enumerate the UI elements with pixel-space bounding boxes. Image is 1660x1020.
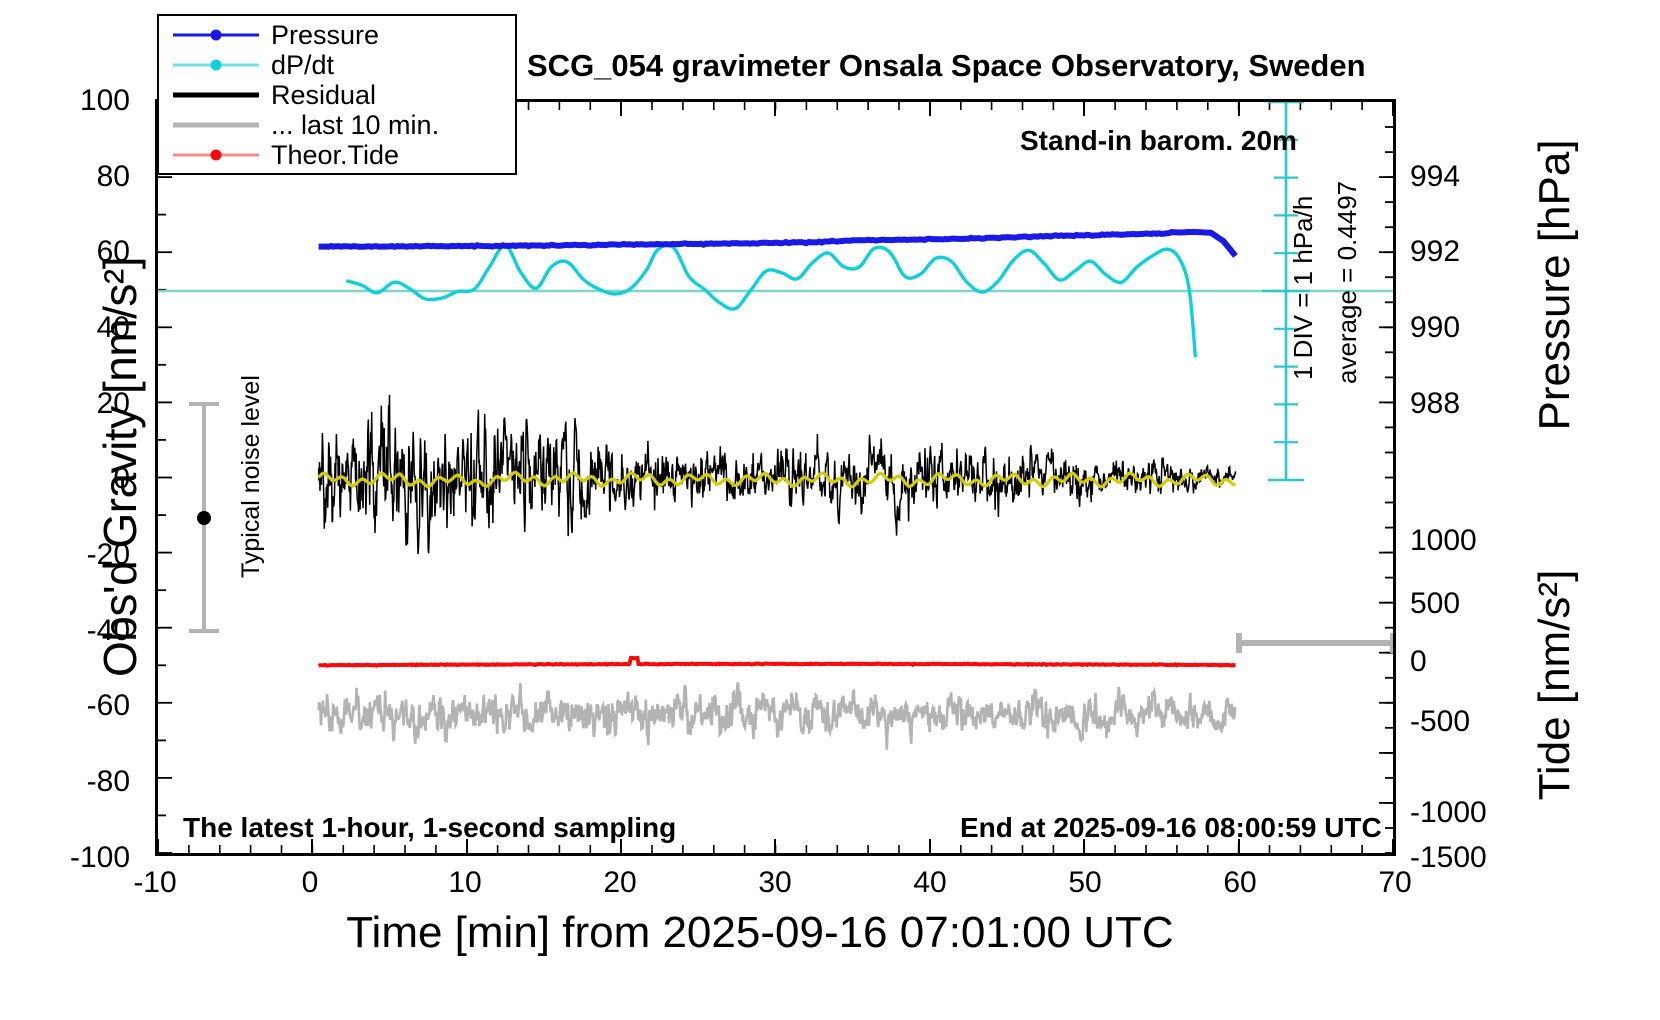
t-tick-1000: 1000 (1410, 524, 1477, 558)
plot-area (155, 99, 1396, 856)
y-tick-m20: -20 (30, 538, 130, 572)
y-tick-60: 60 (30, 235, 130, 269)
typical-noise-label: Typical noise level (237, 375, 266, 578)
legend-label-pressure: Pressure (271, 20, 379, 51)
y-tick-20: 20 (30, 387, 130, 421)
legend-label-dpdt: dP/dt (271, 50, 334, 81)
legend-swatch-pressure (173, 23, 259, 47)
legend-item-dpdt[interactable]: dP/dt (173, 50, 515, 80)
p-tick-988: 988 (1410, 387, 1460, 421)
x-tick-0: 0 (265, 866, 355, 900)
legend-swatch-residual (173, 83, 259, 107)
x-tick-50: 50 (1040, 866, 1130, 900)
series-theoretical-tide (319, 658, 1236, 666)
x-axis-title: Time [min] from 2025-09-16 07:01:00 UTC (160, 908, 1360, 958)
x-tick-10: 10 (420, 866, 510, 900)
legend-label-last10: ... last 10 min. (271, 110, 439, 141)
footer-right-label: End at 2025-09-16 08:00:59 UTC (960, 812, 1382, 844)
y-tick-m60: -60 (30, 689, 130, 723)
legend-swatch-last10 (173, 113, 259, 137)
legend-item-theortide[interactable]: Theor.Tide (173, 140, 515, 170)
series-dpdt (346, 245, 1195, 357)
legend-swatch-dpdt (173, 53, 259, 77)
last10min-span-bar (1239, 633, 1393, 653)
legend-label-theortide: Theor.Tide (271, 140, 399, 171)
y-tick-100: 100 (30, 84, 130, 118)
legend: Pressure dP/dt Residual ... last 10 min.… (157, 14, 517, 175)
typical-noise-center-dot (197, 511, 211, 525)
legend-label-residual: Residual (271, 80, 376, 111)
legend-item-residual[interactable]: Residual (173, 80, 515, 110)
y-tick-80: 80 (30, 160, 130, 194)
x-tick-m10: -10 (110, 866, 200, 900)
series-last-10-min (319, 683, 1236, 750)
footer-left-label: The latest 1-hour, 1-second sampling (183, 812, 676, 844)
p-tick-994: 994 (1410, 160, 1460, 194)
y-tick-m40: -40 (30, 614, 130, 648)
y-axis-pressure-title: Pressure [hPa] (1530, 75, 1580, 495)
x-tick-30: 30 (730, 866, 820, 900)
x-tick-40: 40 (885, 866, 975, 900)
y-tick-m80: -80 (30, 765, 130, 799)
plot-svg (158, 102, 1393, 853)
p-tick-990: 990 (1410, 311, 1460, 345)
y-axis-tide-title: Tide [nm/s²] (1530, 500, 1580, 870)
x-tick-20: 20 (575, 866, 665, 900)
average-label: average = 0.4497 (1332, 181, 1363, 384)
y-tick-40: 40 (30, 311, 130, 345)
t-tick-m1000: -1000 (1410, 796, 1487, 830)
series-pressure (319, 232, 1236, 256)
y-tick-0: 0 (30, 462, 130, 496)
standin-barom-label: Stand-in barom. 20m (1020, 125, 1297, 157)
legend-swatch-theortide (173, 143, 259, 167)
t-tick-0: 0 (1410, 645, 1427, 679)
t-tick-500: 500 (1410, 587, 1460, 621)
chart-title: SCG_054 gravimeter Onsala Space Observat… (527, 48, 1366, 84)
x-tick-70: 70 (1350, 866, 1440, 900)
p-tick-992: 992 (1410, 235, 1460, 269)
legend-item-pressure[interactable]: Pressure (173, 20, 515, 50)
x-tick-60: 60 (1195, 866, 1285, 900)
div-scale-label: 1 DIV = 1 hPa/h (1288, 196, 1319, 380)
legend-item-last10[interactable]: ... last 10 min. (173, 110, 515, 140)
t-tick-m500: -500 (1410, 705, 1470, 739)
